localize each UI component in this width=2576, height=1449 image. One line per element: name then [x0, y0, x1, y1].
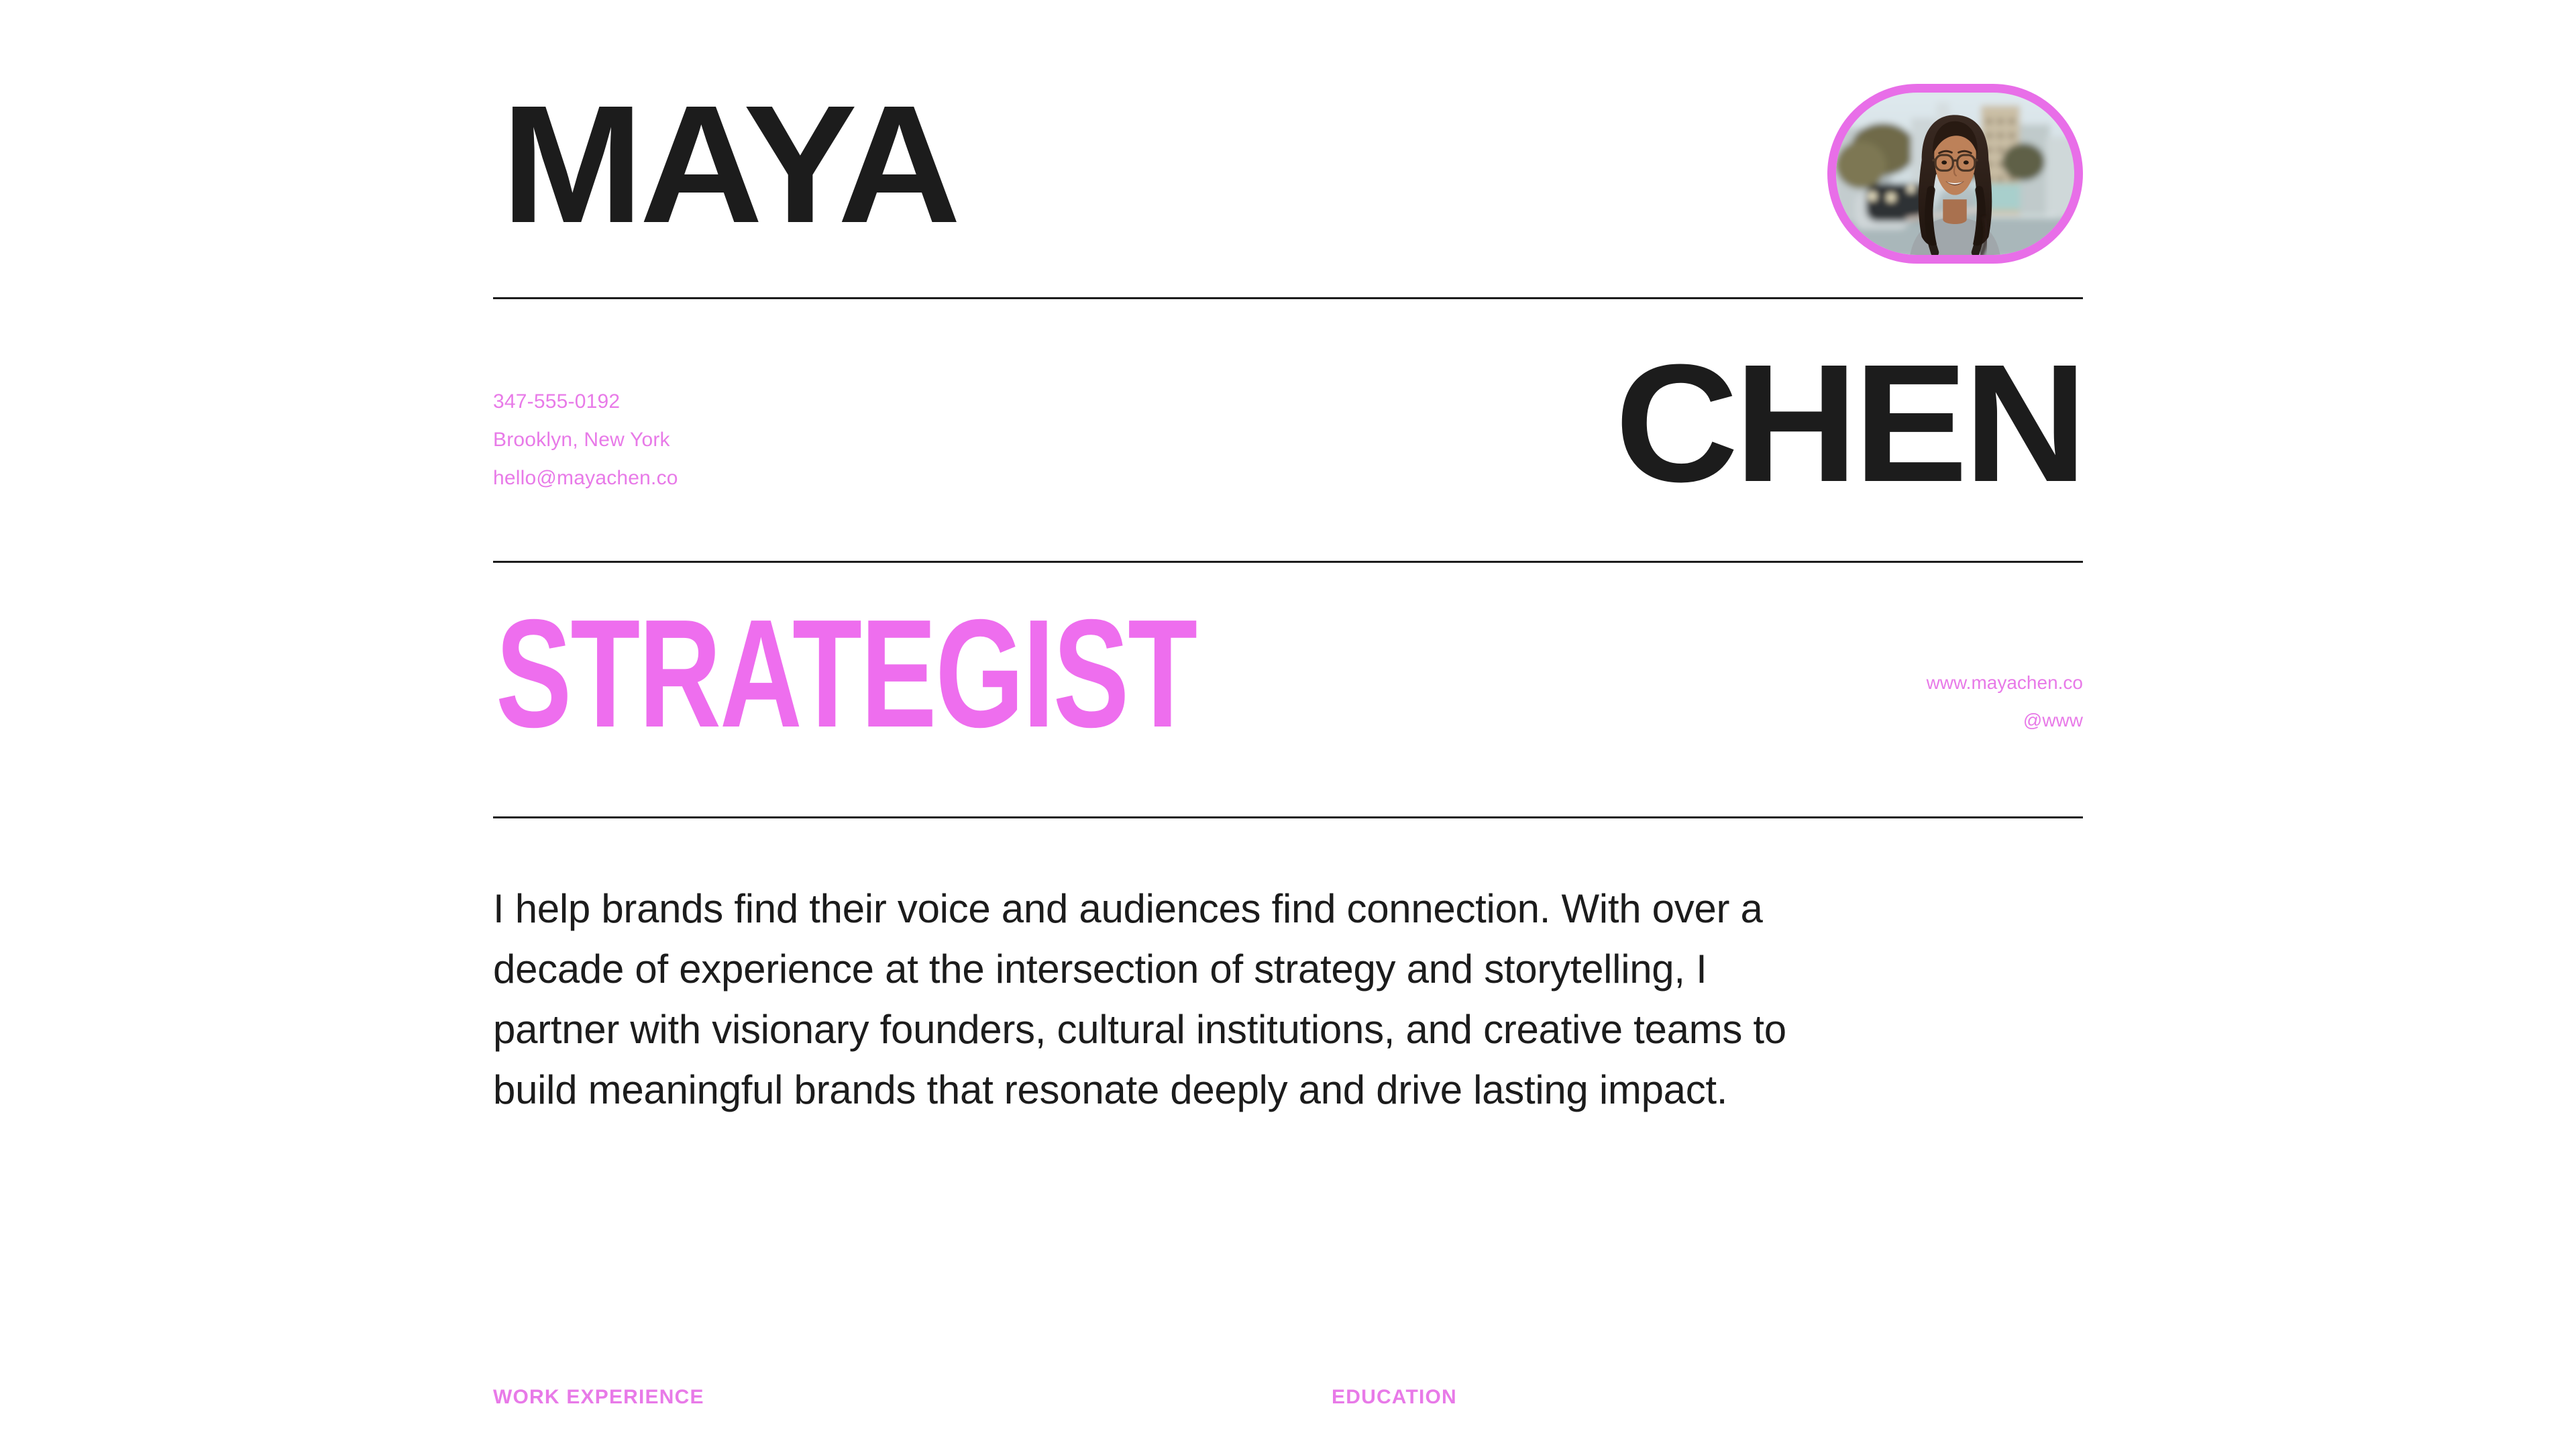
divider-3: [493, 816, 2083, 818]
section-header-education: EDUCATION: [1332, 1385, 1457, 1409]
role-title: STRATEGIST: [496, 597, 1196, 751]
links-block: www.mayachen.co @www: [1927, 664, 2083, 739]
social-handle[interactable]: @www: [1927, 702, 2083, 739]
website-link[interactable]: www.mayachen.co: [1927, 664, 2083, 702]
bio-paragraph: I help brands find their voice and audie…: [493, 879, 1828, 1120]
divider-1: [493, 297, 2083, 299]
contact-block: 347-555-0192 Brooklyn, New York hello@ma…: [493, 382, 678, 497]
avatar-photo: [1836, 93, 2074, 255]
section-headers-row: WORK EXPERIENCE EDUCATION: [493, 1385, 2083, 1426]
role-row: STRATEGIST www.mayachen.co @www: [493, 597, 2083, 798]
page-title-last-name: CHEN: [1615, 339, 2083, 507]
section-header-work-experience: WORK EXPERIENCE: [493, 1385, 704, 1409]
avatar: [1827, 84, 2083, 264]
divider-2: [493, 561, 2083, 563]
page-title-first-name: MAYA: [501, 80, 957, 248]
contact-phone[interactable]: 347-555-0192: [493, 382, 678, 421]
contact-email[interactable]: hello@mayachen.co: [493, 459, 678, 497]
contact-location: Brooklyn, New York: [493, 421, 678, 459]
header-bottom-row: 347-555-0192 Brooklyn, New York hello@ma…: [493, 335, 2083, 537]
header-top-row: MAYA: [493, 80, 2083, 275]
resume-page: MAYA: [493, 0, 2083, 1449]
